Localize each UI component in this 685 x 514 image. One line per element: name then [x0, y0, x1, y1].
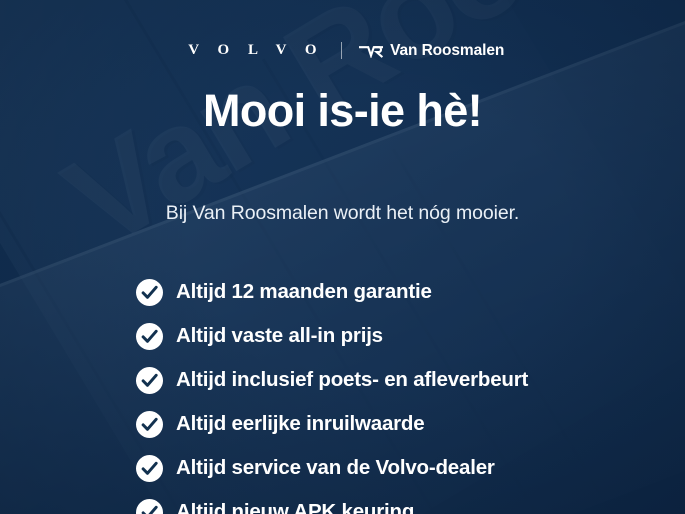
benefits-list: Altijd 12 maanden garantie Altijd vaste … [0, 279, 685, 514]
list-item-label: Altijd service van de Volvo-dealer [176, 458, 495, 479]
list-item: Altijd inclusief poets- en afleverbeurt [136, 367, 685, 394]
list-item-label: Altijd vaste all-in prijs [176, 326, 383, 347]
list-item-label: Altijd eerlijke inruilwaarde [176, 414, 424, 435]
logo-row: V O L V O Van Roosmalen [181, 42, 505, 59]
check-circle-icon [136, 367, 163, 394]
list-item-label: Altijd 12 maanden garantie [176, 282, 432, 303]
banner-content: V O L V O Van Roosmalen Mooi is-ie hè! B… [0, 0, 685, 514]
list-item: Altijd service van de Volvo-dealer [136, 455, 685, 482]
list-item: Altijd vaste all-in prijs [136, 323, 685, 350]
list-item-label: Altijd inclusief poets- en afleverbeurt [176, 370, 528, 391]
list-item: Altijd 12 maanden garantie [136, 279, 685, 306]
page-subtitle: Bij Van Roosmalen wordt het nóg mooier. [166, 204, 519, 224]
page-title: Mooi is-ie hè! [203, 88, 482, 133]
list-item-label: Altijd nieuw APK keuring [176, 502, 414, 514]
check-circle-icon [136, 455, 163, 482]
check-circle-icon [136, 279, 163, 306]
van-roosmalen-wordmark: Van Roosmalen [390, 43, 504, 59]
logo-divider [341, 42, 342, 59]
list-item: Altijd nieuw APK keuring [136, 499, 685, 514]
volvo-wordmark: V O L V O [181, 43, 324, 58]
check-circle-icon [136, 323, 163, 350]
promo-banner: Van Roosmalen V O L V O Van Roosmalen Mo… [0, 0, 685, 514]
check-circle-icon [136, 499, 163, 514]
van-roosmalen-logo: Van Roosmalen [359, 43, 504, 59]
check-circle-icon [136, 411, 163, 438]
vr-monogram-icon [359, 43, 383, 58]
list-item: Altijd eerlijke inruilwaarde [136, 411, 685, 438]
